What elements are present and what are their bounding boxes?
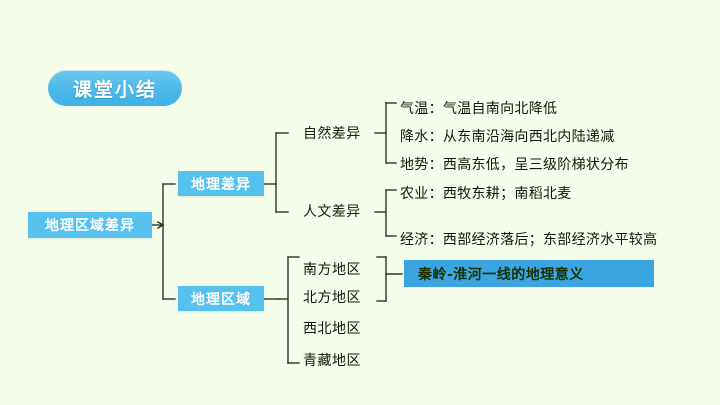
leaf-agriculture: 农业：西牧东耕；南稻北麦: [400, 183, 572, 203]
region-north: 北方地区: [303, 287, 361, 307]
note-qinling-huaihe[interactable]: 秦岭-淮河一线的地理意义: [404, 260, 654, 287]
region-northwest: 西北地区: [303, 318, 361, 338]
section-title-text: 课堂小结: [73, 75, 157, 102]
region-south: 南方地区: [303, 259, 361, 279]
node-geographic-difference[interactable]: 地理差异: [178, 171, 264, 196]
leaf-terrain: 地势：西高东低，呈三级阶梯状分布: [400, 154, 629, 174]
node-geographic-difference-label: 地理差异: [191, 174, 251, 194]
region-qinghai-tibet: 青藏地区: [303, 350, 361, 370]
node-geographic-region[interactable]: 地理区域: [178, 286, 264, 311]
leaf-precipitation: 降水：从东南沿海向西北内陆递减: [400, 126, 615, 146]
node-human-difference: 人文差异: [303, 201, 361, 221]
diagram-canvas: 课堂小结 地理区域差异 地理差异 地理区域 自然差异 人文差异 气温：气温自南向…: [0, 0, 720, 405]
brace-l2-tip: [158, 222, 163, 228]
node-natural-difference: 自然差异: [303, 123, 361, 143]
leaf-temperature: 气温：气温自南向北降低: [400, 98, 557, 118]
section-title-badge: 课堂小结: [48, 70, 182, 106]
node-geographic-region-label: 地理区域: [191, 289, 251, 309]
node-root[interactable]: 地理区域差异: [28, 212, 152, 238]
leaf-economy: 经济：西部经济落后；东部经济水平较高: [400, 229, 657, 249]
note-qinling-huaihe-label: 秦岭-淮河一线的地理意义: [404, 264, 584, 284]
node-root-label: 地理区域差异: [45, 215, 135, 235]
